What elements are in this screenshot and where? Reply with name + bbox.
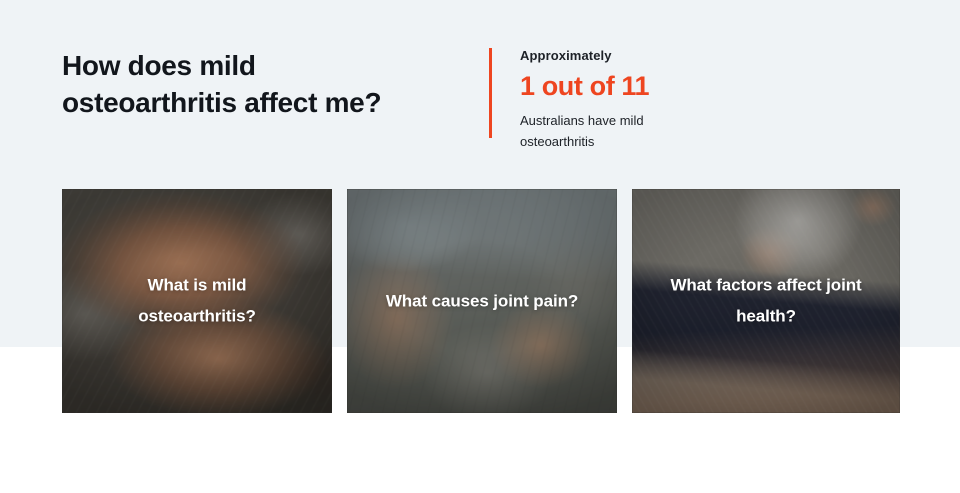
page-title: How does mild osteoarthritis affect me?	[62, 48, 392, 122]
card-what-factors-affect-joint-health[interactable]: What factors affect joint health?	[632, 189, 900, 413]
card-label: What causes joint pain?	[347, 285, 617, 316]
card-grid: What is mild osteoarthritis? What causes…	[62, 189, 900, 413]
header-section: How does mild osteoarthritis affect me? …	[0, 0, 960, 189]
statistic-caption: Australians have mild osteoarthritis	[520, 110, 670, 152]
statistic-figure: 1 out of 11	[520, 73, 670, 100]
card-what-is-mild-osteoarthritis[interactable]: What is mild osteoarthritis?	[62, 189, 332, 413]
accent-rule	[489, 48, 492, 138]
card-label: What is mild osteoarthritis?	[62, 270, 332, 333]
statistic-callout: Approximately 1 out of 11 Australians ha…	[489, 48, 670, 138]
card-label: What factors affect joint health?	[632, 270, 900, 333]
card-what-causes-joint-pain[interactable]: What causes joint pain?	[347, 189, 617, 413]
statistic-kicker: Approximately	[520, 48, 670, 64]
